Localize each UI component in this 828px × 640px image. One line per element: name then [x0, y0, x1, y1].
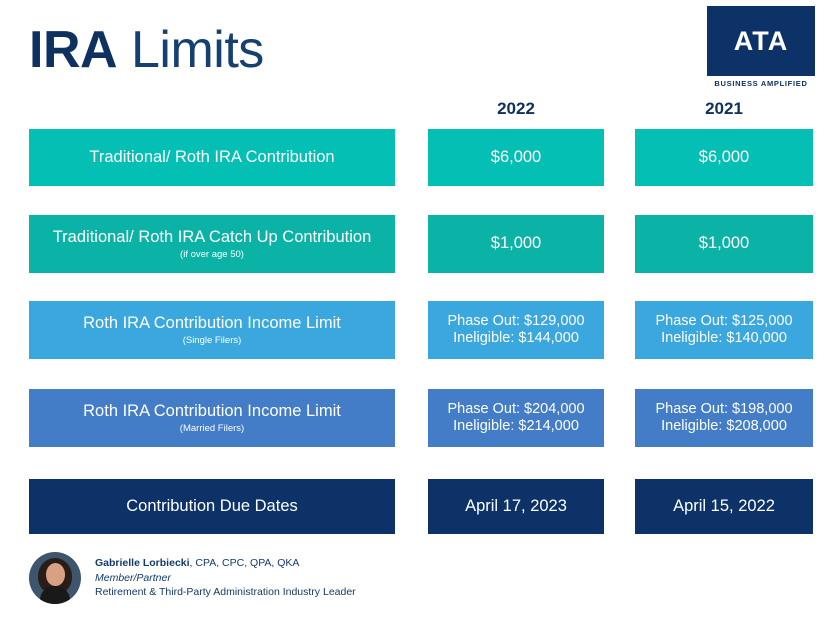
row-value-2022: $1,000 [428, 215, 604, 273]
row-label-cell: Traditional/ Roth IRA Catch Up Contribut… [29, 215, 395, 273]
row-label-cell: Contribution Due Dates [29, 479, 395, 534]
row-label: Roth IRA Contribution Income Limit [83, 402, 341, 421]
author-description: Retirement & Third-Party Administration … [95, 585, 356, 600]
value-line: $1,000 [699, 234, 749, 253]
avatar-face [46, 563, 65, 586]
author-footer: Gabrielle Lorbiecki, CPA, CPC, QPA, QKA … [29, 552, 356, 604]
author-name-line: Gabrielle Lorbiecki, CPA, CPC, QPA, QKA [95, 556, 356, 571]
row-label-cell: Traditional/ Roth IRA Contribution [29, 129, 395, 186]
row-value-2021: April 15, 2022 [635, 479, 813, 534]
value-line: Ineligible: $144,000 [453, 330, 579, 347]
row-value-2022: Phase Out: $204,000 Ineligible: $214,000 [428, 389, 604, 447]
value-line: April 15, 2022 [673, 497, 775, 516]
row-value-2021: $6,000 [635, 129, 813, 186]
author-role: Member/Partner [95, 571, 356, 586]
value-line: Phase Out: $129,000 [447, 313, 584, 330]
avatar [29, 552, 81, 604]
author-name: Gabrielle Lorbiecki [95, 557, 190, 569]
author-credentials: , CPA, CPC, QPA, QKA [190, 557, 300, 569]
row-value-2021: $1,000 [635, 215, 813, 273]
row-label: Traditional/ Roth IRA Contribution [89, 148, 334, 167]
row-label-cell: Roth IRA Contribution Income Limit (Sing… [29, 301, 395, 359]
row-value-2022: Phase Out: $129,000 Ineligible: $144,000 [428, 301, 604, 359]
row-value-2021: Phase Out: $125,000 Ineligible: $140,000 [635, 301, 813, 359]
row-label-cell: Roth IRA Contribution Income Limit (Marr… [29, 389, 395, 447]
row-value-2021: Phase Out: $198,000 Ineligible: $208,000 [635, 389, 813, 447]
row-sublabel: (Single Filers) [183, 335, 242, 346]
limits-table: Traditional/ Roth IRA Contribution $6,00… [0, 0, 828, 640]
value-line: Ineligible: $208,000 [661, 418, 787, 435]
value-line: $6,000 [491, 148, 541, 167]
value-line: Phase Out: $125,000 [655, 313, 792, 330]
author-details: Gabrielle Lorbiecki, CPA, CPC, QPA, QKA … [95, 556, 356, 601]
row-label: Contribution Due Dates [126, 497, 298, 516]
row-sublabel: (Married Filers) [180, 423, 244, 434]
value-line: Phase Out: $204,000 [447, 401, 584, 418]
value-line: April 17, 2023 [465, 497, 567, 516]
row-sublabel: (if over age 50) [180, 249, 244, 260]
value-line: $1,000 [491, 234, 541, 253]
row-value-2022: $6,000 [428, 129, 604, 186]
row-value-2022: April 17, 2023 [428, 479, 604, 534]
value-line: $6,000 [699, 148, 749, 167]
row-label: Roth IRA Contribution Income Limit [83, 314, 341, 333]
row-label: Traditional/ Roth IRA Catch Up Contribut… [53, 228, 372, 247]
value-line: Ineligible: $214,000 [453, 418, 579, 435]
value-line: Phase Out: $198,000 [655, 401, 792, 418]
value-line: Ineligible: $140,000 [661, 330, 787, 347]
